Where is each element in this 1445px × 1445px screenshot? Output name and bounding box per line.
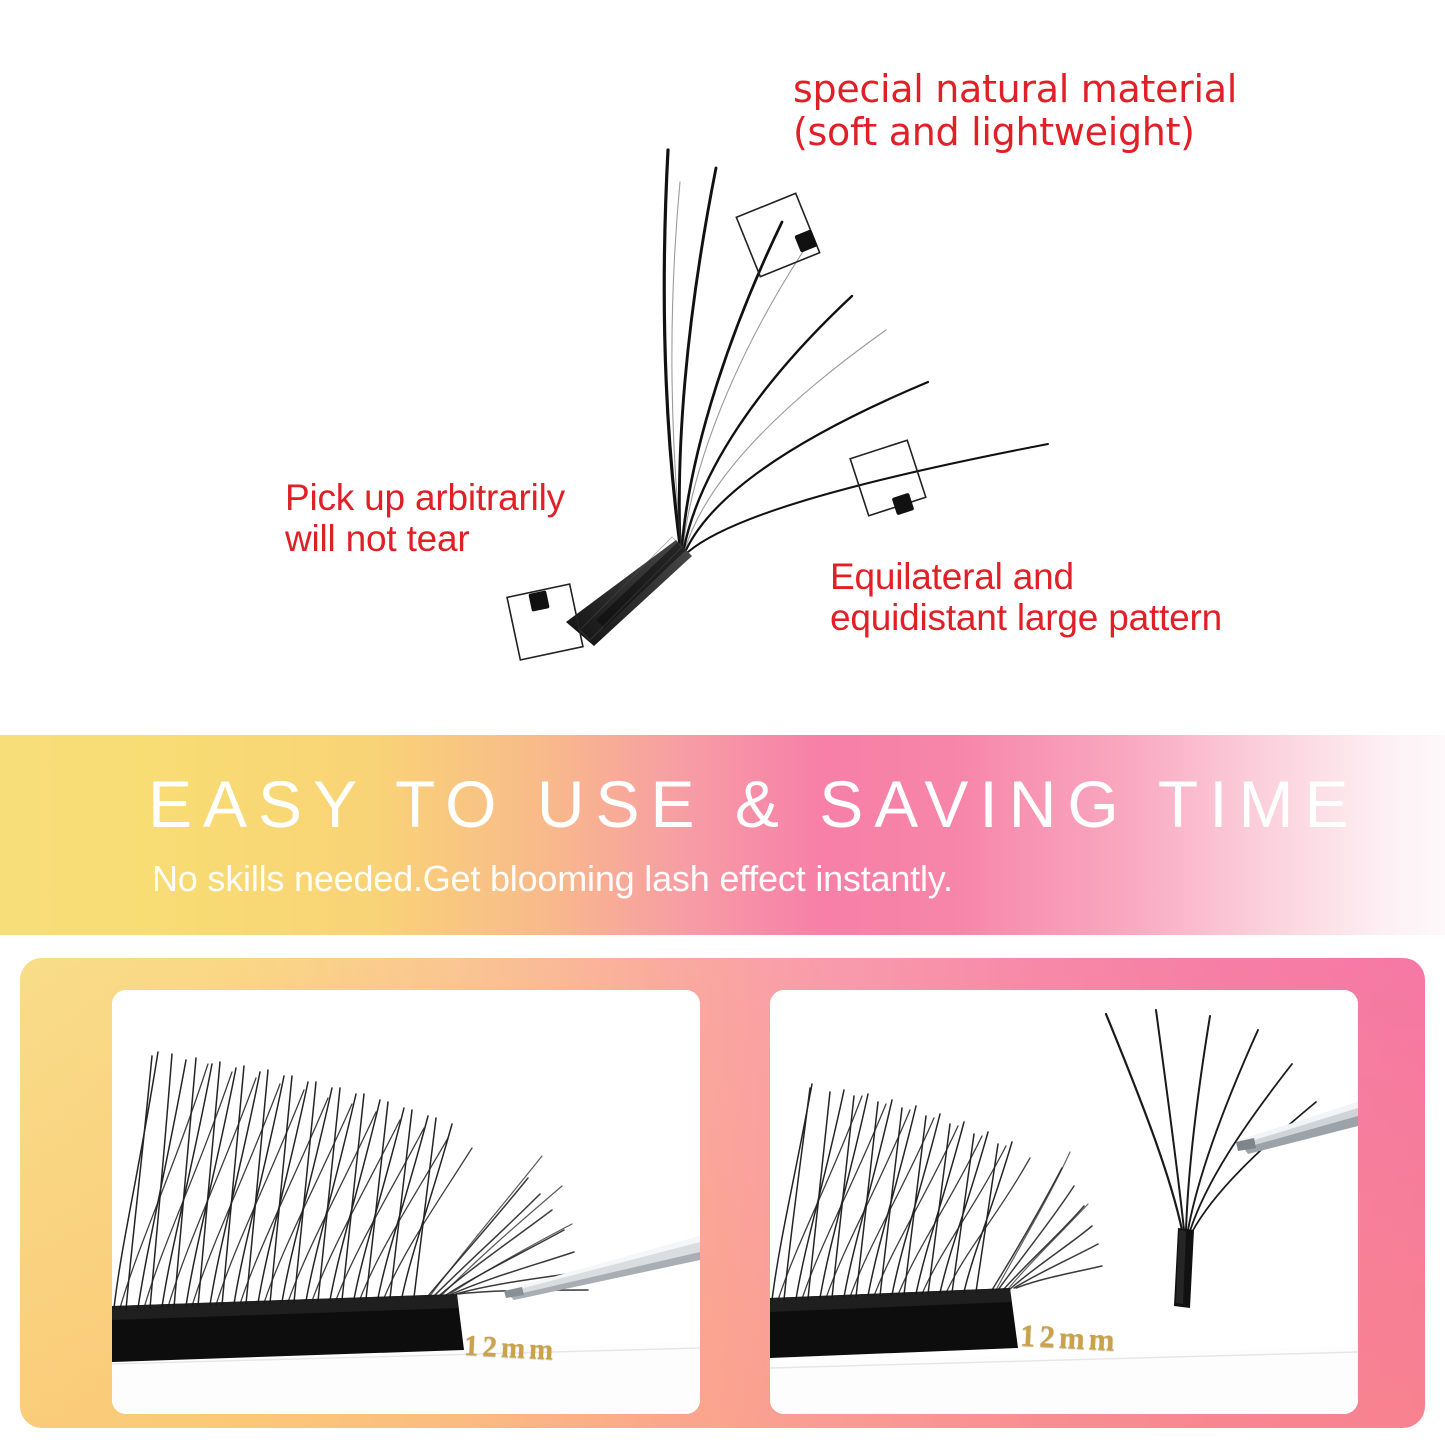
- lash-fibers: [664, 150, 1048, 552]
- callout-pick-up-arbitrarily: Pick up arbitrarily will not tear: [285, 477, 565, 560]
- lash-tray-photo: [112, 990, 700, 1414]
- callout-marker-dots: [528, 229, 914, 611]
- diagram-section: special natural material (soft and light…: [0, 0, 1445, 733]
- photo-panel: 12mm: [20, 958, 1425, 1428]
- banner-subtitle: No skills needed.Get blooming lash effec…: [152, 858, 1332, 899]
- callout-equilateral-pattern: Equilateral and equidistant large patter…: [830, 556, 1222, 639]
- size-label-left: 12mm: [463, 1330, 558, 1368]
- photo-card-lash-fan: 12mm: [770, 990, 1358, 1414]
- photo-card-lash-tray: 12mm: [112, 990, 700, 1414]
- callout-special-natural-material: special natural material (soft and light…: [793, 68, 1237, 153]
- product-infographic: special natural material (soft and light…: [0, 0, 1445, 1445]
- size-label-right: 12mm: [1019, 1317, 1119, 1358]
- lash-base: [566, 537, 692, 646]
- banner-headline: EASY TO USE & SAVING TIME: [148, 771, 1328, 837]
